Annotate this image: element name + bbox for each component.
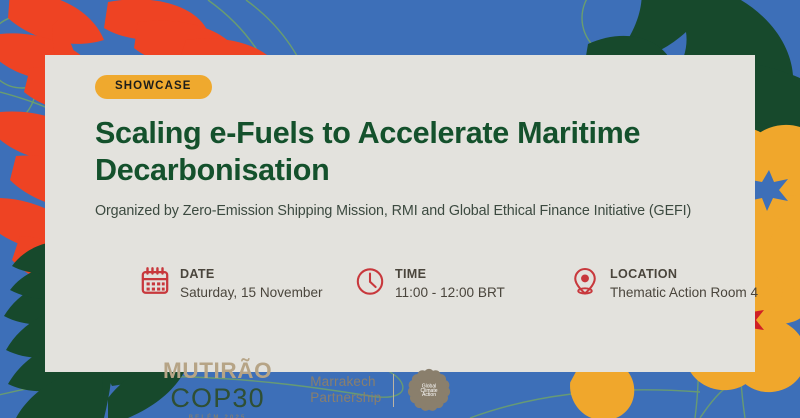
meta-label-location: LOCATION (610, 267, 758, 283)
global-climate-action-icon: Global Climate Action (406, 367, 452, 413)
calendar-icon (140, 265, 170, 297)
meta-value-date: Saturday, 15 November (180, 284, 323, 302)
card-content: SHOWCASE Scaling e-Fuels to Accelerate M… (95, 75, 731, 219)
meta-label-time: TIME (395, 267, 505, 283)
meta-text-date: DATE Saturday, 15 November (180, 265, 323, 302)
event-card-banner: SHOWCASE Scaling e-Fuels to Accelerate M… (0, 0, 800, 418)
cop30-logo-mutirao: MUTIRÃO (163, 360, 272, 383)
map-pin-icon (570, 265, 600, 297)
marrakech-line-1: Marrakech (310, 374, 381, 391)
gca-line-3: Action (422, 392, 436, 398)
event-card: SHOWCASE Scaling e-Fuels to Accelerate M… (45, 55, 755, 372)
meta-item-time: TIME 11:00 - 12:00 BRT (355, 265, 570, 302)
clock-icon (355, 265, 385, 297)
meta-item-location: LOCATION Thematic Action Room 4 (570, 265, 758, 302)
meta-label-date: DATE (180, 267, 323, 283)
page-title: Scaling e-Fuels to Accelerate Maritime D… (95, 115, 695, 190)
event-meta-row: DATE Saturday, 15 November TIME 11:00 - … (140, 265, 758, 302)
meta-value-location: Thematic Action Room 4 (610, 284, 758, 302)
organizers-line: Organized by Zero-Emission Shipping Miss… (95, 203, 731, 219)
meta-text-location: LOCATION Thematic Action Room 4 (610, 265, 758, 302)
meta-item-date: DATE Saturday, 15 November (140, 265, 355, 302)
meta-value-time: 11:00 - 12:00 BRT (395, 284, 505, 302)
logo-row: MUTIRÃO COP30 BELÉM 2025 Marrakech Partn… (163, 360, 452, 418)
meta-text-time: TIME 11:00 - 12:00 BRT (395, 265, 505, 302)
status-badge: SHOWCASE (95, 75, 212, 99)
cop30-logo-cop30: COP30 (163, 384, 272, 412)
marrakech-line-2: Partnership (310, 390, 381, 407)
marrakech-partnership-text: Marrakech Partnership (310, 374, 394, 408)
marrakech-partnership-logo: Marrakech Partnership (290, 367, 452, 413)
cop30-logo: MUTIRÃO COP30 BELÉM 2025 (163, 360, 290, 418)
